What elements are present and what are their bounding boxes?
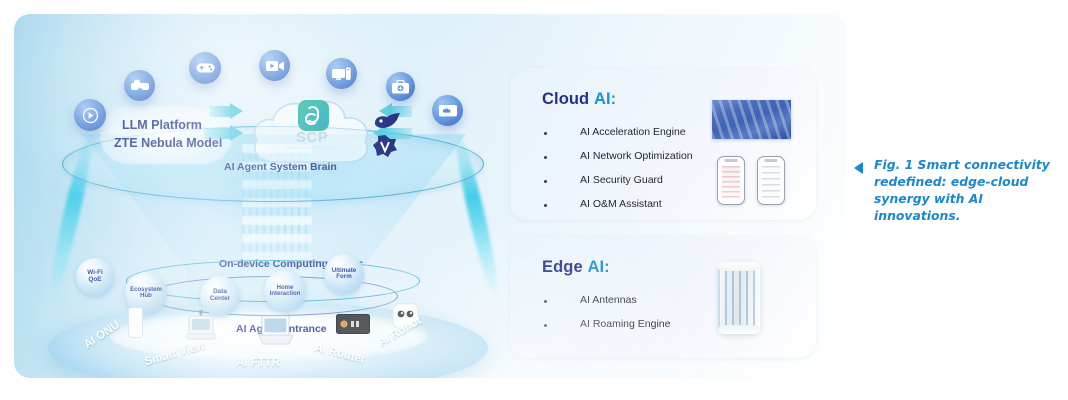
- bullet-dot-icon: [544, 204, 547, 207]
- figure-container: LLM Platform ZTE Nebula Model SCP Smart …: [0, 0, 1068, 400]
- panel-title-accent: AI:: [594, 90, 616, 108]
- ai-router-device-icon: [336, 314, 370, 339]
- list-item: AI Acceleration Engine: [544, 126, 693, 138]
- bubble-ultimate-form: Ultimate Form: [324, 254, 364, 294]
- list-item-label: AI Antennas: [580, 294, 637, 306]
- bullet-dot-icon: [544, 156, 547, 159]
- gamepad-icon: [189, 52, 221, 84]
- llm-platform-label: LLM Platform: [122, 118, 202, 132]
- caption-text: Fig. 1 Smart connectivity redefined: edg…: [874, 156, 1062, 224]
- list-item-label: AI Acceleration Engine: [580, 126, 686, 138]
- caption-left-triangle-icon: [854, 162, 863, 174]
- ai-model-logo-icon: [372, 134, 398, 163]
- device-label-ai-fttr: AI FTTR: [236, 357, 280, 369]
- medical-kit-icon: [386, 72, 415, 101]
- list-item: AI Security Guard: [544, 174, 693, 186]
- illustration-canvas: LLM Platform ZTE Nebula Model SCP Smart …: [14, 14, 846, 378]
- figure-caption: Fig. 1 Smart connectivity redefined: edg…: [874, 156, 1062, 224]
- phone-screen-content: [762, 166, 780, 199]
- scp-logo-icon: [298, 100, 329, 131]
- bubble-wifi-qoe: Wi-Fi QoE: [76, 258, 114, 296]
- panel-title-accent: AI:: [587, 258, 609, 276]
- scp-logo-subtext: Smart Cloud Platform: [282, 145, 342, 150]
- list-item: AI Network Optimization: [544, 150, 693, 162]
- play-circle-icon: [74, 99, 106, 131]
- phone-mockup-2: [757, 156, 785, 205]
- cloud-display-icon: [432, 95, 463, 126]
- vr-headset-icon: [124, 70, 155, 101]
- phone-notch: [765, 159, 778, 162]
- list-item: AI Roaming Engine: [544, 318, 670, 330]
- panel-title-word: Cloud: [542, 90, 589, 108]
- ai-fttr-device-icon: [258, 314, 294, 351]
- panel-cloud-ai: Cloud AI: AI Acceleration Engine AI Netw…: [510, 68, 816, 220]
- bullet-dot-icon: [544, 300, 547, 303]
- panel-edge-ai-list: AI Antennas AI Roaming Engine: [544, 294, 670, 342]
- list-item: AI O&M Assistant: [544, 198, 693, 210]
- list-item-label: AI Roaming Engine: [580, 318, 670, 330]
- video-player-icon: [259, 50, 290, 81]
- arrow-right-lower-icon: [204, 125, 246, 142]
- bubble-line2: Hub: [130, 293, 162, 299]
- bubble-line2: Interaction: [270, 291, 301, 297]
- phone-mockup-1: [717, 156, 745, 205]
- phone-notch: [725, 159, 738, 162]
- panel-title-word: Edge: [542, 258, 583, 276]
- panel-edge-ai: Edge AI: AI Antennas AI Roaming Engine: [510, 236, 816, 358]
- bullet-dot-icon: [544, 324, 547, 327]
- server-rack-photo: [712, 100, 791, 139]
- panel-edge-ai-title: Edge AI:: [542, 258, 610, 277]
- list-item: AI Antennas: [544, 294, 670, 306]
- cylindrical-antenna-photo: [718, 262, 760, 334]
- bullet-dot-icon: [544, 180, 547, 183]
- bullet-dot-icon: [544, 132, 547, 135]
- bubble-line2: QoE: [87, 277, 103, 284]
- phone-screen-content: [722, 166, 740, 199]
- ai-onu-device-icon: [128, 307, 143, 343]
- bubble-line2: Form: [332, 274, 356, 280]
- list-item-label: AI O&M Assistant: [580, 198, 662, 210]
- bubble-line2: Center: [210, 296, 230, 303]
- ai-agent-system-brain-label: AI Agent System Brain: [224, 161, 337, 173]
- scp-logo-text: SCP: [290, 129, 334, 146]
- panel-cloud-ai-title: Cloud AI:: [542, 90, 616, 109]
- panel-cloud-ai-list: AI Acceleration Engine AI Network Optimi…: [544, 126, 693, 222]
- desktop-monitor-icon: [326, 58, 357, 89]
- list-item-label: AI Network Optimization: [580, 150, 693, 162]
- arrow-right-upper-icon: [210, 103, 246, 120]
- bubble-home-interaction: Home Interaction: [264, 270, 306, 312]
- list-item-label: AI Security Guard: [580, 174, 663, 186]
